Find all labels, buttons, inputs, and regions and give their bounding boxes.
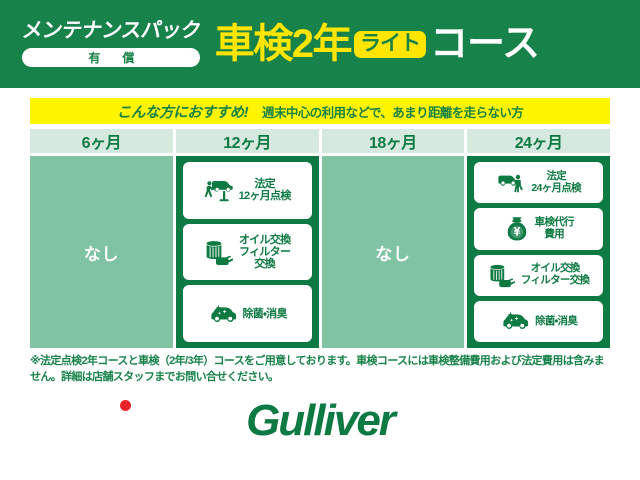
schedule-column-18m: 18ヶ月 なし [322,129,465,348]
car-sanitize-icon [208,304,238,324]
logo-red-dot-icon [120,400,131,411]
schedule-column-24m: 24ヶ月 法定 24ヶ月点検 [467,129,610,348]
column-header-6m: 6ヶ月 [30,129,173,153]
service-label: 除菌・消臭 [535,316,577,328]
service-label: 除菌・消臭 [243,308,287,320]
recommendation-banner: こんな方におすすめ! 週末中心の利用などで、あまり距離を走らない方 [30,98,610,124]
maintenance-schedule-table: 6ヶ月 なし 12ヶ月 [30,129,610,348]
gulliver-wordmark: Gulliver [246,399,394,443]
column-body-24m: 法定 24ヶ月点検 車検代行 費用 [467,156,610,348]
car-sanitize-icon [500,311,530,331]
column-body-12m: 法定 12ヶ月点検 [176,156,319,348]
schedule-column-12m: 12ヶ月 法定 [176,129,319,348]
header-banner: メンテナンスパック 有 償 車検2年 ライト コース [0,0,640,88]
course-main-title: 車検2年 [215,24,351,64]
column-header-24m: 24ヶ月 [467,129,610,153]
column-header-12m: 12ヶ月 [176,129,319,153]
column-header-18m: 18ヶ月 [322,129,465,153]
schedule-column-6m: 6ヶ月 なし [30,129,173,348]
light-badge: ライト [354,31,426,58]
maintenance-pack-title: メンテナンスパック [21,21,203,42]
car-lift-inspection-icon [204,177,234,203]
paid-badge: 有 償 [22,48,200,67]
oil-filter-change-icon [204,238,234,266]
service-label: オイル交換 フィルター交換 [521,263,589,287]
service-card-oil-change-12m[interactable]: オイル交換 フィルター 交換 [183,224,312,281]
recommendation-detail-text: 週末中心の利用などで、あまり距離を走らない方 [262,102,523,121]
service-card-sanitize-24m[interactable]: 除菌・消臭 [474,301,603,342]
maintenance-pack-block: メンテナンスパック 有 償 [22,21,201,67]
oil-filter-change-icon [488,262,516,288]
service-label: 法定 24ヶ月点検 [531,171,580,195]
service-card-sanitize-12m[interactable]: 除菌・消臭 [183,285,312,342]
money-bag-yen-icon [504,216,530,242]
service-card-oil-change-24m[interactable]: オイル交換 フィルター交換 [474,255,603,296]
footnote-text: ※法定点検2年コースと車検（2年/3年）コースをご用意しております。車検コースに… [30,354,610,385]
service-label: 車検代行 費用 [535,217,574,241]
service-card-shaken-agency-fee-24m[interactable]: 車検代行 費用 [474,208,603,249]
course-suffix-label: コース [430,25,539,63]
none-label-6m: なし [84,240,119,265]
brand-logo: Gulliver [0,399,640,443]
service-label: オイル交換 フィルター 交換 [239,234,291,271]
service-card-legal-inspection-24m[interactable]: 法定 24ヶ月点検 [474,162,603,203]
car-lift-inspection-icon [496,171,526,195]
none-label-18m: なし [375,240,410,265]
service-card-legal-inspection-12m[interactable]: 法定 12ヶ月点検 [183,162,312,219]
service-label: 法定 12ヶ月点検 [239,178,291,203]
course-title-block: 車検2年 ライト コース [215,24,640,64]
column-body-18m: なし [322,156,465,348]
column-body-6m: なし [30,156,173,348]
recommendation-lead-text: こんな方におすすめ! [117,101,248,122]
